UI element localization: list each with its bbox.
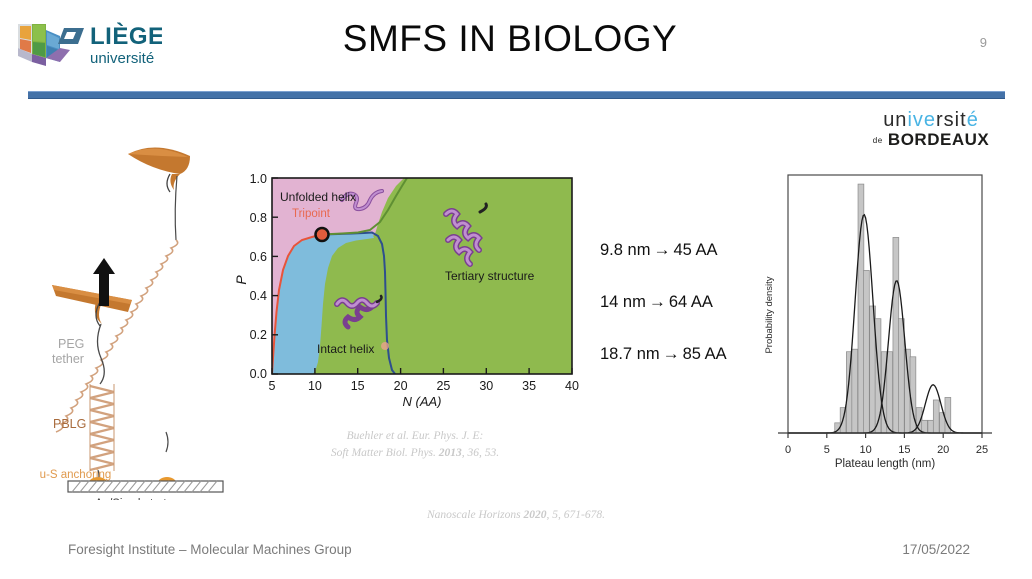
phase-diagram-citation: Buehler et al. Eur. Phys. J. E: Soft Mat… <box>250 428 580 461</box>
region-label-tertiary-structure: Tertiary structure <box>445 269 535 283</box>
phase-ytick-1: 0.2 <box>250 328 267 342</box>
phase-ytick-5: 1.0 <box>250 172 267 186</box>
source-year: 2020 <box>524 509 547 521</box>
histogram-x-tick-label: 20 <box>937 444 949 456</box>
citation-year: 2013 <box>439 447 462 459</box>
phase-x-axis-label: N (AA) <box>403 394 442 408</box>
cantilever-relaxed <box>52 285 132 326</box>
histogram-x-tick-label: 5 <box>824 444 830 456</box>
histogram-bar <box>933 400 939 433</box>
slide: LIÈGE université SMFS IN BIOLOGY 9 unive… <box>0 0 1032 579</box>
tripoint-label: Tripoint <box>292 208 331 220</box>
conversion-residues: 64 AA <box>669 293 713 311</box>
secondary-marker <box>381 342 389 350</box>
region-label-unfolded-helix: Unfolded helix <box>280 190 356 204</box>
liege-logo-name: LIÈGE <box>90 22 162 50</box>
histogram-bar <box>893 237 899 433</box>
label-au-si-substrate: Au/Si substrate <box>95 498 173 500</box>
conversion-length: 18.7 nm <box>600 345 660 363</box>
conversion-length: 14 nm <box>600 293 646 311</box>
phase-y-tick-labels: 0.0 0.2 0.4 0.6 0.8 1.0 <box>250 172 267 381</box>
arrow-right-icon: → <box>650 240 673 259</box>
bordeaux-logo-de: de <box>873 136 883 145</box>
arrow-right-icon: → <box>646 292 669 311</box>
conversion-length: 9.8 nm <box>600 241 650 259</box>
histogram-x-ticks <box>788 433 982 438</box>
liege-logo-subtitle: université <box>90 50 154 67</box>
bordeaux-uni-part3: rsit <box>936 109 967 131</box>
label-peg-tether-line1: PEG <box>58 337 84 351</box>
bordeaux-uni-part1: un <box>883 109 907 131</box>
phase-xtick-1: 10 <box>308 379 322 393</box>
label-peg-tether-line2: tether <box>52 352 84 366</box>
phase-xtick-5: 30 <box>479 379 493 393</box>
histogram-x-tick-label: 25 <box>976 444 988 456</box>
pblg-stretched <box>56 240 178 432</box>
phase-diagram-chart: Tripoint Unfolded helix Intact helix Ter… <box>232 168 582 408</box>
footer-date: 17/05/2022 <box>902 542 970 557</box>
histogram-y-axis-label: Probability density <box>764 276 775 353</box>
phase-xtick-4: 25 <box>436 379 450 393</box>
source-rest: , 5, 671-678. <box>547 509 605 521</box>
conversion-residues: 45 AA <box>673 241 717 259</box>
cantilever-stretched <box>128 147 190 192</box>
peg-tether-stretched <box>175 176 177 240</box>
phase-ytick-2: 0.4 <box>250 289 267 303</box>
citation-line-2: Soft Matter Biol. Phys. 2013, 36, 53. <box>250 445 580 462</box>
region-label-intact-helix: Intact helix <box>317 342 374 356</box>
histogram-x-tick-labels: 0510152025 <box>785 444 988 456</box>
bordeaux-university-logo: université de BORDEAUX <box>866 110 996 150</box>
histogram-x-tick-label: 0 <box>785 444 791 456</box>
phase-xtick-6: 35 <box>522 379 536 393</box>
source-citation: Nanoscale Horizons 2020, 5, 671-678. <box>0 509 1032 521</box>
histogram-x-tick-label: 15 <box>898 444 910 456</box>
histogram-bar <box>898 319 904 433</box>
tether-lower-stretched <box>166 432 168 452</box>
liege-university-logo: LIÈGE université <box>12 18 162 74</box>
tripoint-marker <box>316 228 329 241</box>
pblg-spring <box>90 384 114 471</box>
liege-logo-svg: LIÈGE université <box>12 18 162 74</box>
histogram-bar <box>922 420 928 433</box>
phase-ytick-3: 0.6 <box>250 250 267 264</box>
bordeaux-uni-part2: ive <box>907 109 936 131</box>
histogram-x-tick-label: 10 <box>859 444 871 456</box>
liege-logo-mark <box>18 24 84 66</box>
phase-ytick-4: 0.8 <box>250 211 267 225</box>
label-pblg: PBLG <box>53 417 86 431</box>
phase-y-axis-label: P <box>233 275 249 285</box>
histogram-bar <box>863 270 869 433</box>
histogram-bar <box>887 352 893 433</box>
histogram-x-axis-label: Plateau length (nm) <box>835 458 936 470</box>
bordeaux-logo-bottom: de BORDEAUX <box>866 130 996 150</box>
source-journal: Nanoscale Horizons <box>427 509 523 521</box>
page-number: 9 <box>980 35 987 50</box>
citation-line-1: Buehler et al. Eur. Phys. J. E: <box>250 428 580 445</box>
page-title: SMFS IN BIOLOGY <box>260 18 760 60</box>
label-au-s-anchoring: Au-S anchoring <box>40 469 111 481</box>
histogram-bar <box>928 420 934 433</box>
length-to-residue-conversions: 9.8 nm→45 AA 14 nm→64 AA 18.7 nm→85 AA <box>600 240 780 396</box>
histogram-bar <box>852 349 858 433</box>
phase-xtick-2: 15 <box>351 379 365 393</box>
conversion-residues: 85 AA <box>683 345 727 363</box>
conversion-row: 9.8 nm→45 AA <box>600 240 780 260</box>
phase-diagram-svg: Tripoint Unfolded helix Intact helix Ter… <box>232 168 582 408</box>
footer-organization: Foresight Institute – Molecular Machines… <box>68 542 352 557</box>
au-si-substrate-bar <box>68 481 223 492</box>
conversion-row: 18.7 nm→85 AA <box>600 344 780 364</box>
phase-ytick-0: 0.0 <box>250 367 267 381</box>
citation-journal: Soft Matter Biol. Phys. <box>331 447 439 459</box>
histogram-bar <box>858 184 864 433</box>
bordeaux-uni-part4: é <box>967 109 979 131</box>
arrow-right-icon: → <box>660 344 683 363</box>
plateau-length-histogram-chart: 0510152025 Plateau length (nm) Probabili… <box>760 165 1010 475</box>
phase-xtick-0: 5 <box>269 379 276 393</box>
title-divider <box>28 91 1005 99</box>
bordeaux-logo-city: BORDEAUX <box>888 130 989 149</box>
citation-rest: , 36, 53. <box>462 447 499 459</box>
bordeaux-logo-universite: université <box>866 110 996 130</box>
peg-tether-relaxed <box>98 324 105 384</box>
histogram-svg: 0510152025 Plateau length (nm) Probabili… <box>760 165 1010 475</box>
phase-xtick-3: 20 <box>394 379 408 393</box>
conversion-row: 14 nm→64 AA <box>600 292 780 312</box>
phase-xtick-7: 40 <box>565 379 579 393</box>
phase-x-tick-labels: 5 10 15 20 25 30 35 40 <box>269 379 579 393</box>
